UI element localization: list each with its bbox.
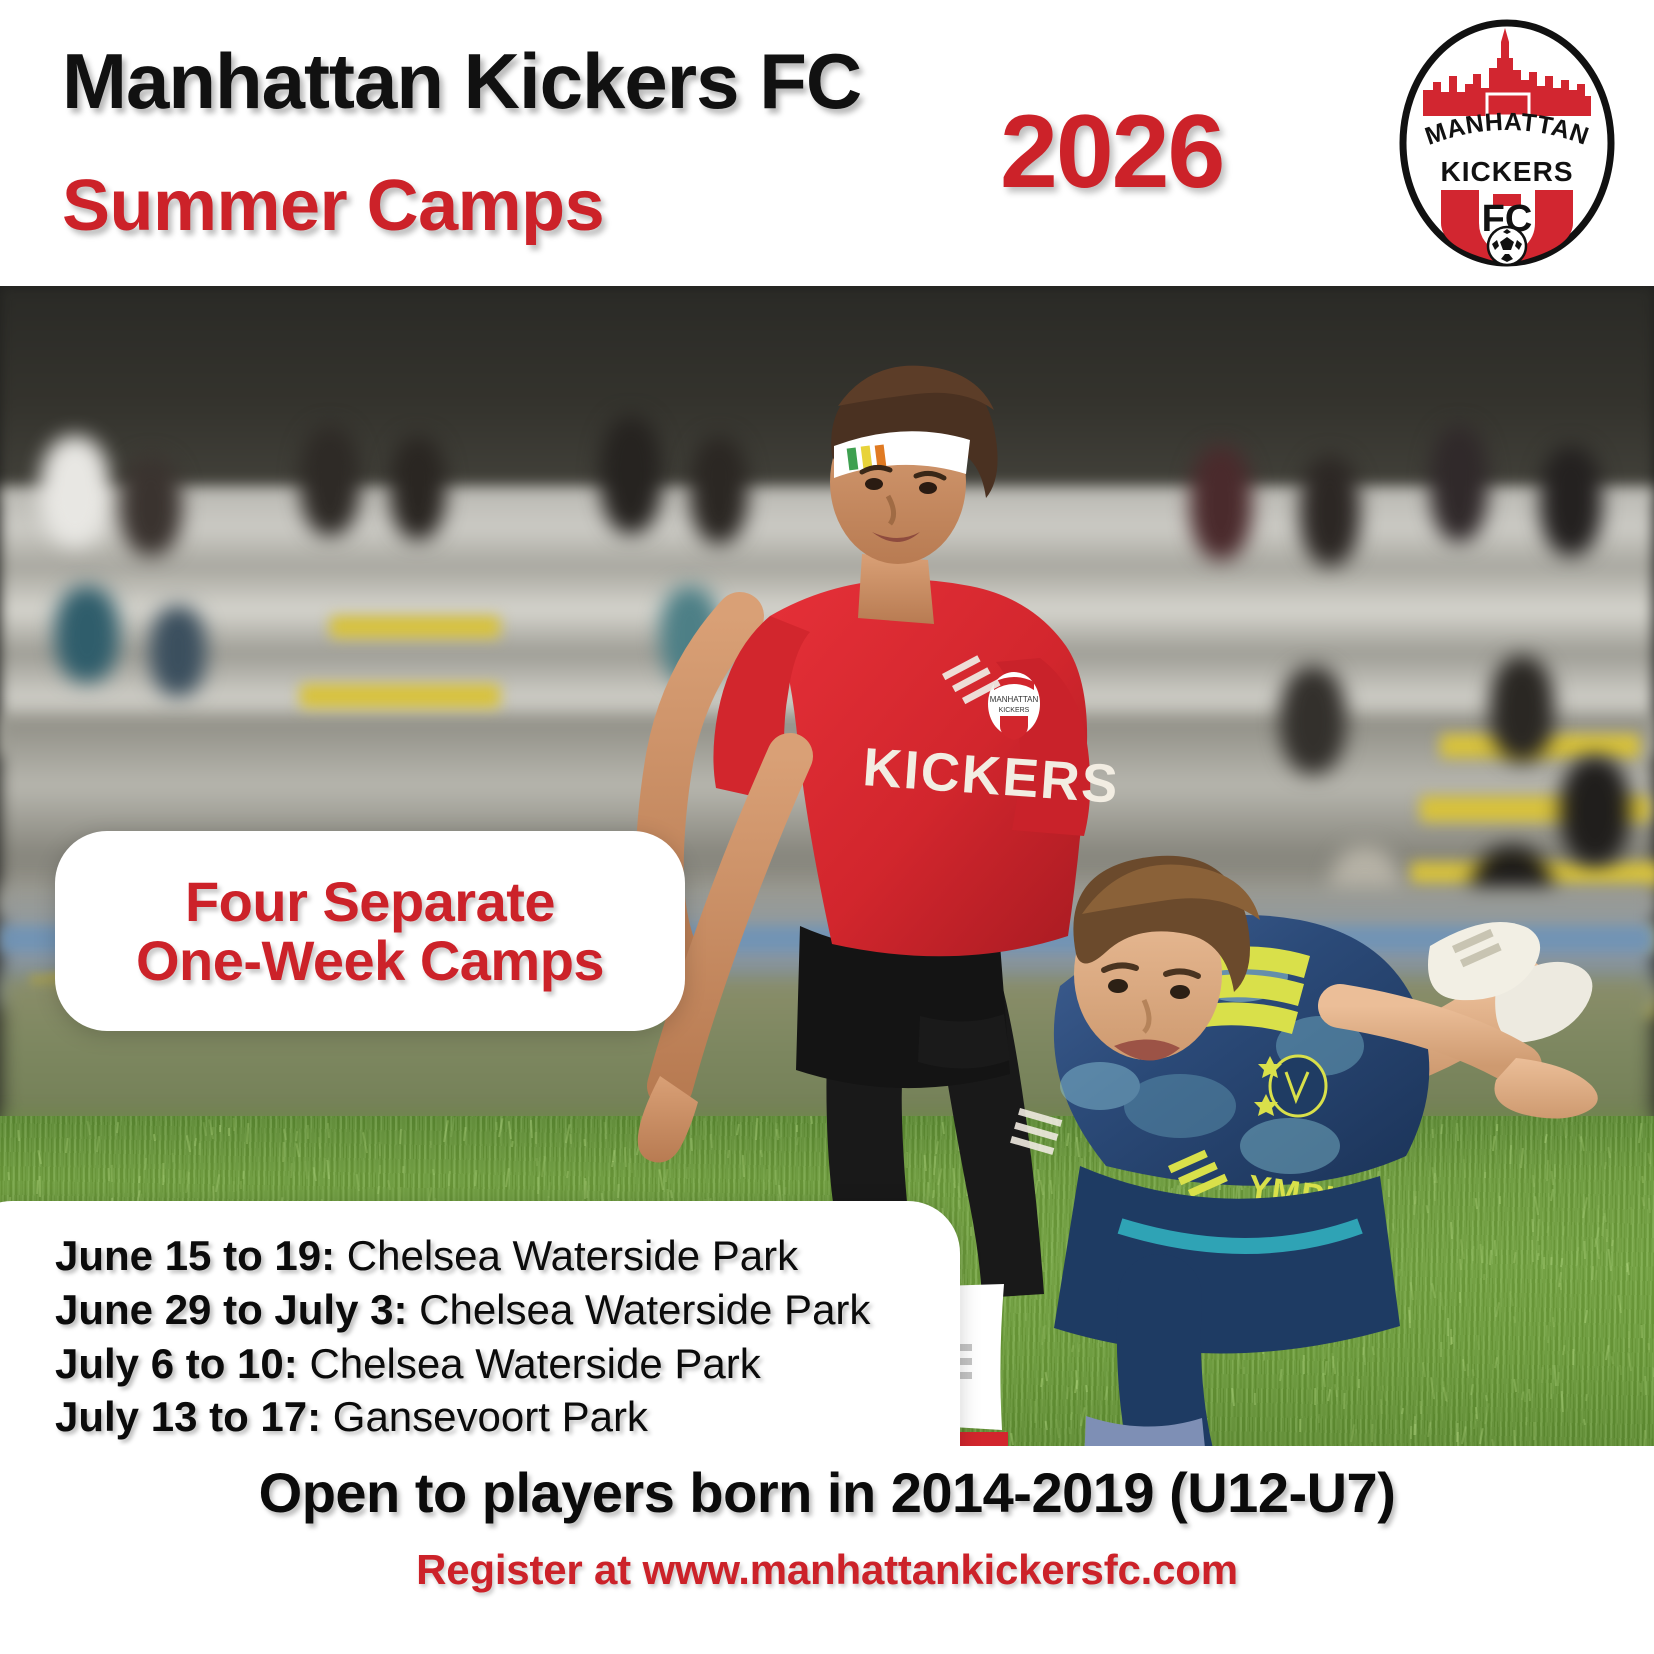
- camps-count-card: Four Separate One-Week Camps: [55, 831, 685, 1031]
- camps-count-text: Four Separate One-Week Camps: [136, 872, 604, 991]
- poster-header: Manhattan Kickers FC Summer Camps 2026 M…: [0, 0, 1654, 286]
- list-item: July 6 to 10: Chelsea Waterside Park: [55, 1337, 915, 1391]
- camp-action-photo: MANHATTAN KICKERS KICKERS: [0, 286, 1654, 1446]
- session-dates: July 6 to 10:: [55, 1340, 298, 1387]
- session-venue: Chelsea Waterside Park: [419, 1286, 870, 1333]
- svg-text:MANHATTAN: MANHATTAN: [990, 695, 1039, 704]
- page-title: Summer Camps: [62, 170, 604, 242]
- summer-camp-poster: Manhattan Kickers FC Summer Camps 2026 M…: [0, 0, 1654, 1654]
- schedule-list: June 15 to 19: Chelsea Waterside Park Ju…: [55, 1229, 915, 1444]
- svg-text:KICKERS: KICKERS: [1440, 156, 1573, 187]
- session-dates: June 15 to 19:: [55, 1232, 335, 1279]
- session-venue: Gansevoort Park: [333, 1393, 648, 1440]
- session-dates: June 29 to July 3:: [55, 1286, 407, 1333]
- schedule-card: June 15 to 19: Chelsea Waterside Park Ju…: [0, 1201, 960, 1446]
- list-item: June 29 to July 3: Chelsea Waterside Par…: [55, 1283, 915, 1337]
- eligibility-text: Open to players born in 2014-2019 (U12-U…: [0, 1460, 1654, 1525]
- svg-text:KICKERS: KICKERS: [999, 707, 1030, 714]
- club-crest-icon: MANHATTAN KICKERS FC: [1395, 18, 1619, 268]
- list-item: June 15 to 19: Chelsea Waterside Park: [55, 1229, 915, 1283]
- poster-footer: Open to players born in 2014-2019 (U12-U…: [0, 1446, 1654, 1654]
- list-item: July 13 to 17: Gansevoort Park: [55, 1390, 915, 1444]
- club-name: Manhattan Kickers FC: [62, 42, 861, 120]
- session-venue: Chelsea Waterside Park: [347, 1232, 798, 1279]
- year-label: 2026: [1000, 100, 1223, 204]
- session-venue: Chelsea Waterside Park: [309, 1340, 760, 1387]
- registration-link[interactable]: Register at www.manhattankickersfc.com: [0, 1546, 1654, 1594]
- session-dates: July 13 to 17:: [55, 1393, 321, 1440]
